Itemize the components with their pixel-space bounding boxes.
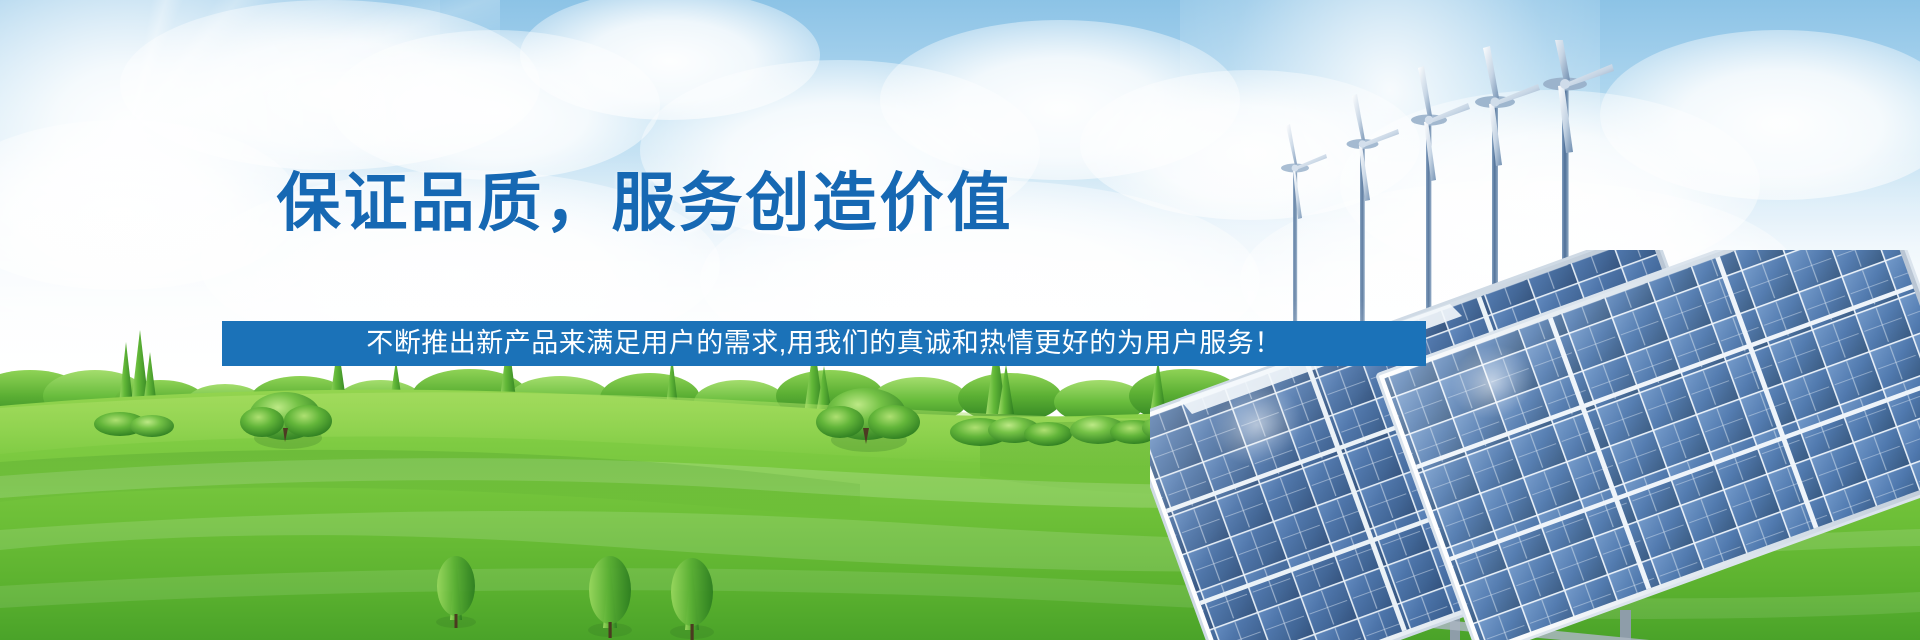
- shrub-cluster-4: [94, 412, 174, 437]
- subtitle-text: 不断推出新产品来满足用户的需求,用我们的真诚和热情更好的为用户服务！: [366, 321, 1282, 366]
- sapling-1: [436, 556, 476, 628]
- shrub-cluster-3: [1186, 419, 1266, 447]
- foreground-vegetation: [0, 380, 1920, 640]
- meadow-tree-right: [816, 388, 920, 452]
- meadow-tree-left: [240, 392, 332, 452]
- hero-banner: 保证品质，服务创造价值 不断推出新产品来满足用户的需求,用我们的真诚和热情更好的…: [0, 0, 1920, 640]
- shrub-cluster-2: [1070, 415, 1194, 444]
- sapling-3: [670, 558, 714, 640]
- shrub-cluster-1: [950, 417, 1072, 446]
- subtitle-banner: 不断推出新产品来满足用户的需求,用我们的真诚和热情更好的为用户服务！: [222, 321, 1426, 366]
- page-title: 保证品质，服务创造价值: [0, 166, 1290, 240]
- sapling-2: [588, 556, 632, 638]
